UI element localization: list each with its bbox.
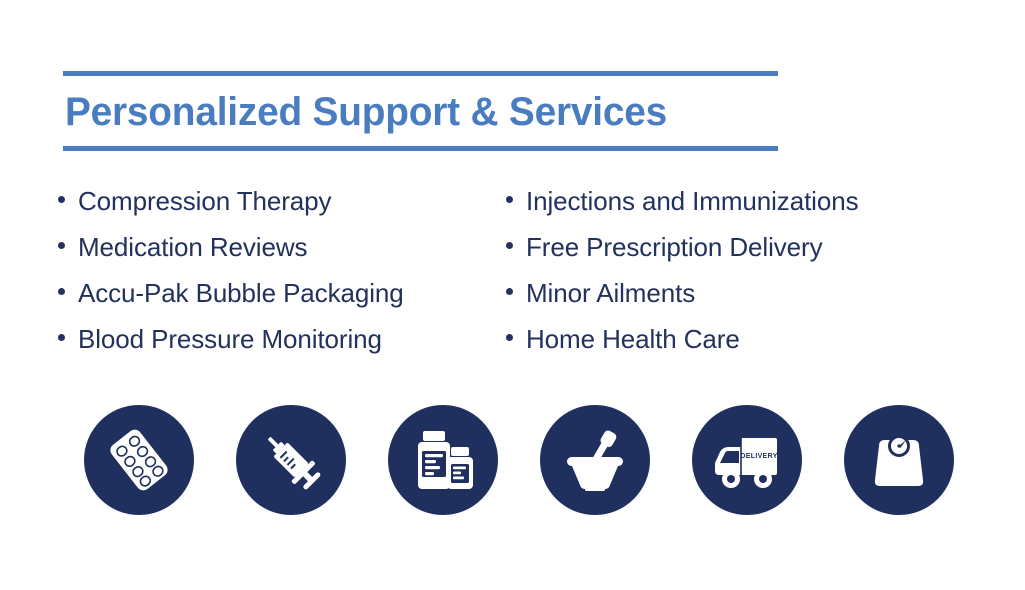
- list-item: Blood Pressure Monitoring: [58, 316, 490, 362]
- bullet-icon: [58, 334, 65, 341]
- list-item: Free Prescription Delivery: [506, 224, 1025, 270]
- list-item: Minor Ailments: [506, 270, 1025, 316]
- pill-bottles-icon: [406, 423, 480, 497]
- icon-badge-syringe: [236, 405, 346, 515]
- icon-badge-blister-pack: [84, 405, 194, 515]
- mortar-and-pestle-icon: [558, 423, 632, 497]
- service-label: Accu-Pak Bubble Packaging: [78, 270, 404, 316]
- delivery-van-icon: DELIVERY: [708, 421, 786, 499]
- van-delivery-text: DELIVERY: [740, 453, 777, 460]
- icon-badge-delivery-van: DELIVERY: [692, 405, 802, 515]
- bullet-icon: [506, 196, 513, 203]
- list-item: Accu-Pak Bubble Packaging: [58, 270, 490, 316]
- icon-row: DELIVERY: [0, 405, 1025, 515]
- title-bottom-rule: [63, 146, 778, 151]
- bullet-icon: [58, 288, 65, 295]
- services-section: Compression Therapy Medication Reviews A…: [0, 178, 1025, 362]
- service-label: Medication Reviews: [78, 224, 307, 270]
- syringe-icon: [254, 423, 328, 497]
- bullet-icon: [506, 242, 513, 249]
- icon-badge-mortar-pestle: [540, 405, 650, 515]
- weight-scale-icon: [863, 424, 935, 496]
- service-label: Compression Therapy: [78, 178, 331, 224]
- icon-badge-weight-scale: [844, 405, 954, 515]
- service-label: Free Prescription Delivery: [526, 224, 823, 270]
- services-left-column: Compression Therapy Medication Reviews A…: [0, 178, 490, 362]
- title-block: Personalized Support & Services: [63, 71, 778, 151]
- service-label: Minor Ailments: [526, 270, 695, 316]
- bullet-icon: [58, 242, 65, 249]
- list-item: Injections and Immunizations: [506, 178, 1025, 224]
- service-label: Home Health Care: [526, 316, 740, 362]
- service-label: Injections and Immunizations: [526, 178, 858, 224]
- list-item: Medication Reviews: [58, 224, 490, 270]
- list-item: Compression Therapy: [58, 178, 490, 224]
- icon-badge-pill-bottles: [388, 405, 498, 515]
- bullet-icon: [58, 196, 65, 203]
- bullet-icon: [506, 288, 513, 295]
- list-item: Home Health Care: [506, 316, 1025, 362]
- page-title: Personalized Support & Services: [63, 76, 757, 146]
- services-right-column: Injections and Immunizations Free Prescr…: [490, 178, 1025, 362]
- service-label: Blood Pressure Monitoring: [78, 316, 382, 362]
- blister-pack-icon: [103, 424, 175, 496]
- bullet-icon: [506, 334, 513, 341]
